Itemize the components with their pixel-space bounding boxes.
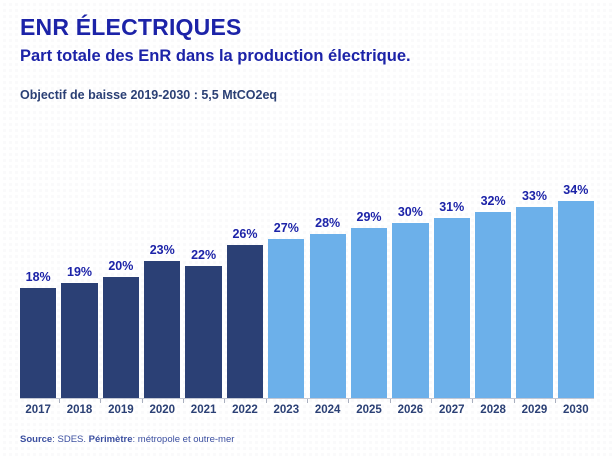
chart-subtitle: Part totale des EnR dans la production é… (20, 47, 594, 67)
bar-column: 29% (351, 150, 387, 399)
x-axis-tick (348, 399, 349, 403)
source-label: Source (20, 434, 52, 445)
bar-column: 30% (392, 150, 428, 399)
x-axis-tick (307, 399, 308, 403)
x-axis-tick (224, 399, 225, 403)
bar-2022[interactable] (227, 245, 263, 399)
x-axis-tick (555, 399, 556, 403)
bar-column: 28% (310, 150, 346, 399)
bar-chart-plot-area: 18%19%20%23%22%26%27%28%29%30%31%32%33%3… (20, 150, 594, 399)
chart-slide: ENR ÉLECTRIQUES Part totale des EnR dans… (0, 0, 614, 457)
x-axis-tick (183, 399, 184, 403)
bar-2019[interactable] (103, 277, 139, 399)
bar-2017[interactable] (20, 288, 56, 399)
bar-column: 34% (558, 150, 594, 399)
x-axis-tick (100, 399, 101, 403)
bar-2024[interactable] (310, 234, 346, 399)
x-tick-label-2030: 2030 (552, 404, 600, 416)
bar-2028[interactable] (475, 212, 511, 399)
bar-2018[interactable] (61, 283, 97, 399)
bar-value-label-2030: 34% (550, 183, 602, 197)
bar-column: 31% (434, 150, 470, 399)
bar-2020[interactable] (144, 261, 180, 399)
bar-column: 22% (185, 150, 221, 399)
page-title: ENR ÉLECTRIQUES (20, 14, 594, 40)
bar-column: 27% (268, 150, 304, 399)
bar-value-label-2019: 20% (95, 259, 147, 273)
x-axis-tick (431, 399, 432, 403)
x-axis-tick (59, 399, 60, 403)
bar-value-label-2021: 22% (177, 248, 229, 262)
x-axis-tick (266, 399, 267, 403)
bar-column: 33% (516, 150, 552, 399)
bar-column: 18% (20, 150, 56, 399)
bar-column: 20% (103, 150, 139, 399)
bar-2029[interactable] (516, 207, 552, 399)
x-axis-tick (472, 399, 473, 403)
x-axis-tick (390, 399, 391, 403)
bar-column: 32% (475, 150, 511, 399)
bar-column: 26% (227, 150, 263, 399)
scope-value: : métropole et outre-mer (133, 434, 235, 445)
bar-2021[interactable] (185, 266, 221, 399)
source-footnote: Source: SDES. Périmètre: métropole et ou… (20, 434, 234, 445)
source-value: : SDES. (52, 434, 86, 445)
bar-column: 23% (144, 150, 180, 399)
x-axis-tick (514, 399, 515, 403)
header: ENR ÉLECTRIQUES Part totale des EnR dans… (20, 14, 594, 103)
bar-2026[interactable] (392, 223, 428, 399)
bar-2025[interactable] (351, 228, 387, 399)
scope-label: Périmètre (89, 434, 133, 445)
bar-column: 19% (61, 150, 97, 399)
x-axis-tick (142, 399, 143, 403)
bar-2030[interactable] (558, 201, 594, 399)
bar-2027[interactable] (434, 218, 470, 399)
objective-text: Objectif de baisse 2019-2030 : 5,5 MtCO2… (20, 88, 594, 103)
bar-2023[interactable] (268, 239, 304, 399)
